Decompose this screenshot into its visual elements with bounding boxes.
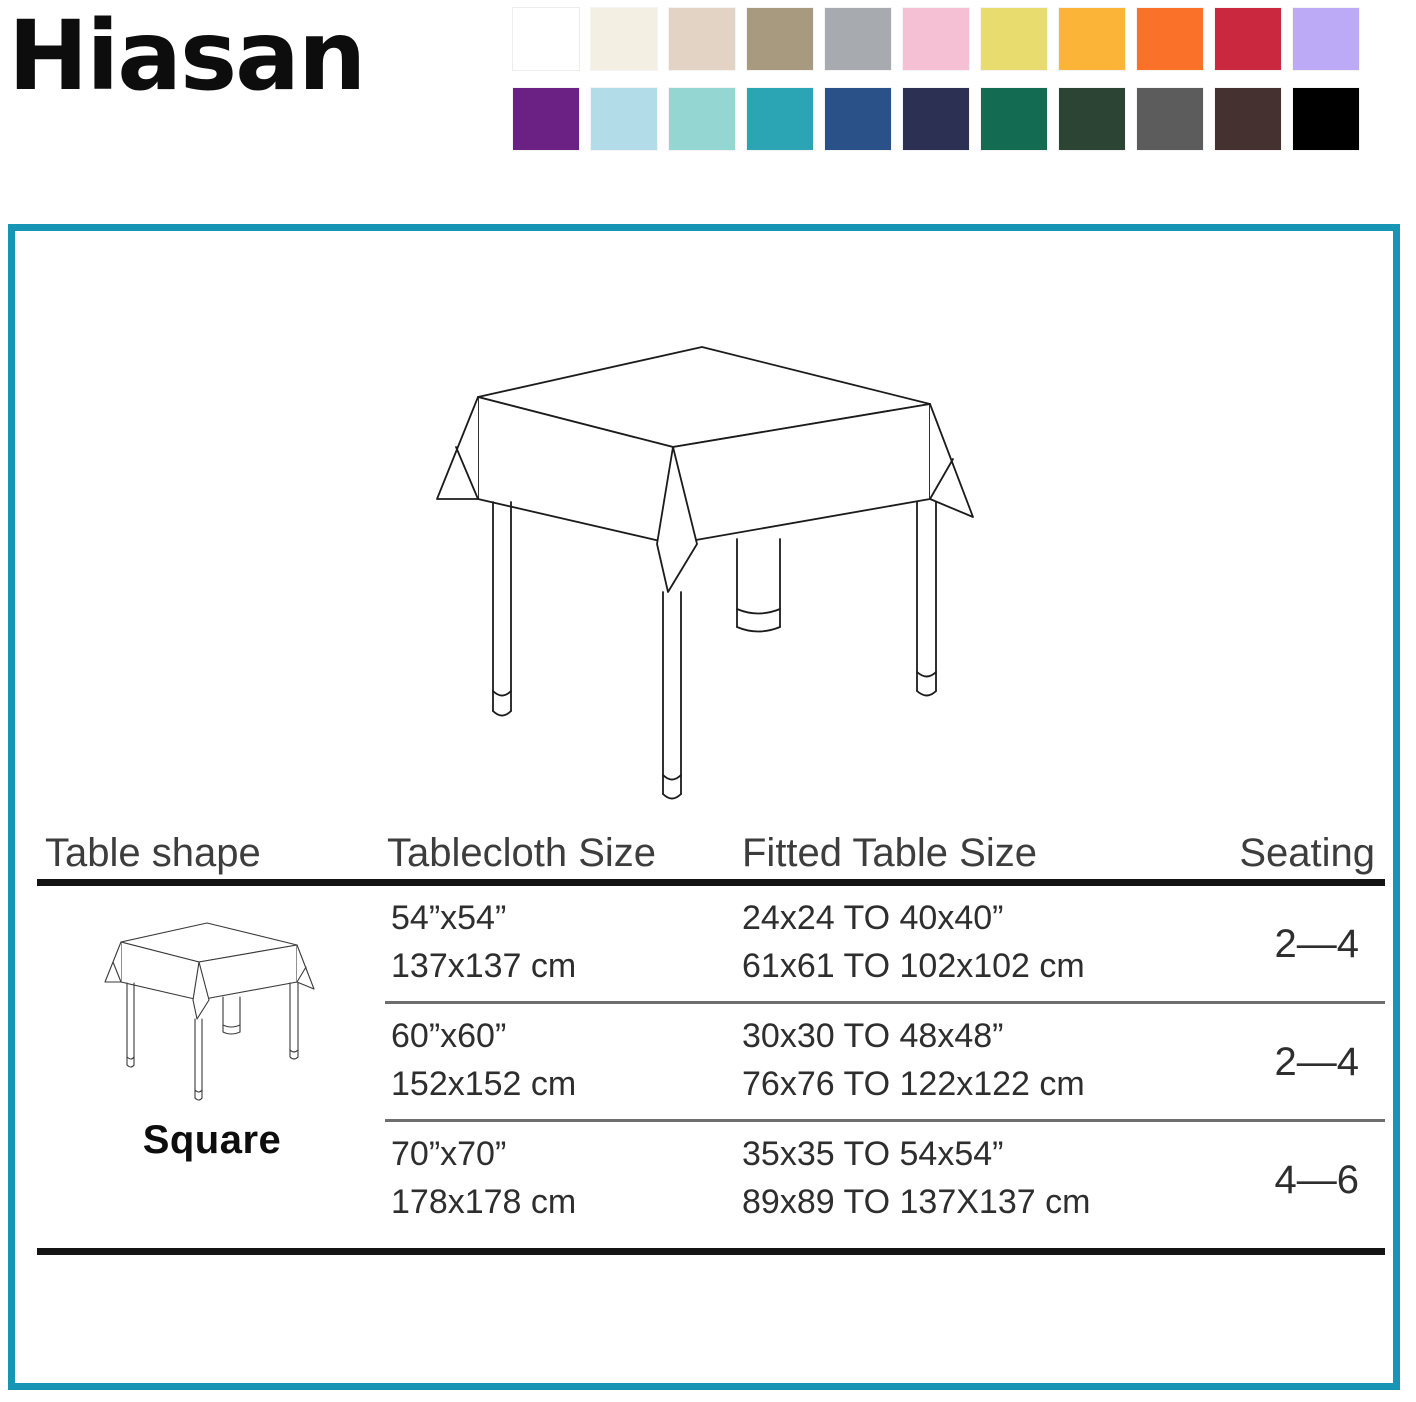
fitted-size-cm: 89x89 TO 137X137 cm [742,1178,1090,1226]
column-header-table-shape: Table shape [45,833,261,873]
column-header-tablecloth-size: Tablecloth Size [387,833,656,873]
tablecloth-size-cell: 54”x54” 137x137 cm [391,894,576,991]
seating-capacity-cell: 2—4 [1275,916,1360,973]
header-bar: Hiasan [0,0,1416,200]
color-swatch[interactable] [903,88,969,150]
color-swatch[interactable] [669,8,735,70]
table-header-divider [37,879,1385,886]
color-swatch[interactable] [903,8,969,70]
column-header-fitted-table-size: Fitted Table Size [742,833,1037,873]
brand-wordmark-logo: Hiasan [8,8,364,104]
seating-capacity-cell: 4—6 [1275,1152,1360,1209]
table-header-row: Table shape Tablecloth Size Fitted Table… [37,811,1385,873]
fitted-table-size-cell: 30x30 TO 48x48” 76x76 TO 122x122 cm [742,1012,1085,1109]
color-swatch[interactable] [981,88,1047,150]
fitted-size-cm: 76x76 TO 122x122 cm [742,1060,1085,1108]
fitted-size-inches: 24x24 TO 40x40” [742,894,1085,942]
table-body: Square 54”x54” 137x137 cm 24x24 TO 40x40… [37,886,1385,1242]
tablecloth-size-cell: 70”x70” 178x178 cm [391,1130,576,1227]
tablecloth-size-inches: 60”x60” [391,1012,576,1060]
color-swatch[interactable] [747,8,813,70]
color-swatch[interactable] [1215,88,1281,150]
fitted-size-inches: 30x30 TO 48x48” [742,1012,1085,1060]
color-swatch[interactable] [1059,88,1125,150]
column-header-seating: Seating [1239,833,1375,873]
tablecloth-size-inches: 70”x70” [391,1130,576,1178]
square-table-illustration [425,339,985,809]
color-swatch[interactable] [1137,8,1203,70]
color-swatch[interactable] [1059,8,1125,70]
tablecloth-size-inches: 54”x54” [391,894,576,942]
color-swatch[interactable] [981,8,1047,70]
color-swatch[interactable] [669,88,735,150]
seating-capacity-cell: 2—4 [1275,1034,1360,1091]
color-swatch-row-1 [513,8,1403,70]
table-row: 54”x54” 137x137 cm 24x24 TO 40x40” 61x61… [37,886,1385,1004]
fitted-table-size-cell: 24x24 TO 40x40” 61x61 TO 102x102 cm [742,894,1085,991]
color-swatch[interactable] [591,88,657,150]
color-swatch[interactable] [591,8,657,70]
fitted-size-inches: 35x35 TO 54x54” [742,1130,1090,1178]
tablecloth-size-cm: 178x178 cm [391,1178,576,1226]
color-swatch[interactable] [513,88,579,150]
tablecloth-size-cm: 137x137 cm [391,942,576,990]
color-swatch[interactable] [825,88,891,150]
content-frame: Table shape Tablecloth Size Fitted Table… [8,224,1400,1390]
color-swatch[interactable] [1215,8,1281,70]
color-swatch[interactable] [1293,88,1359,150]
size-specification-table: Table shape Tablecloth Size Fitted Table… [37,811,1385,1255]
color-swatch-row-2 [513,88,1403,150]
color-swatch[interactable] [825,8,891,70]
tablecloth-size-cell: 60”x60” 152x152 cm [391,1012,576,1109]
tablecloth-size-cm: 152x152 cm [391,1060,576,1108]
table-bottom-divider [37,1248,1385,1255]
table-row: 70”x70” 178x178 cm 35x35 TO 54x54” 89x89… [37,1122,1385,1240]
color-swatch[interactable] [513,8,579,70]
fitted-table-size-cell: 35x35 TO 54x54” 89x89 TO 137X137 cm [742,1130,1090,1227]
color-swatch-panel [513,8,1403,168]
fitted-size-cm: 61x61 TO 102x102 cm [742,942,1085,990]
table-row: 60”x60” 152x152 cm 30x30 TO 48x48” 76x76… [37,1004,1385,1122]
color-swatch[interactable] [747,88,813,150]
color-swatch[interactable] [1137,88,1203,150]
color-swatch[interactable] [1293,8,1359,70]
